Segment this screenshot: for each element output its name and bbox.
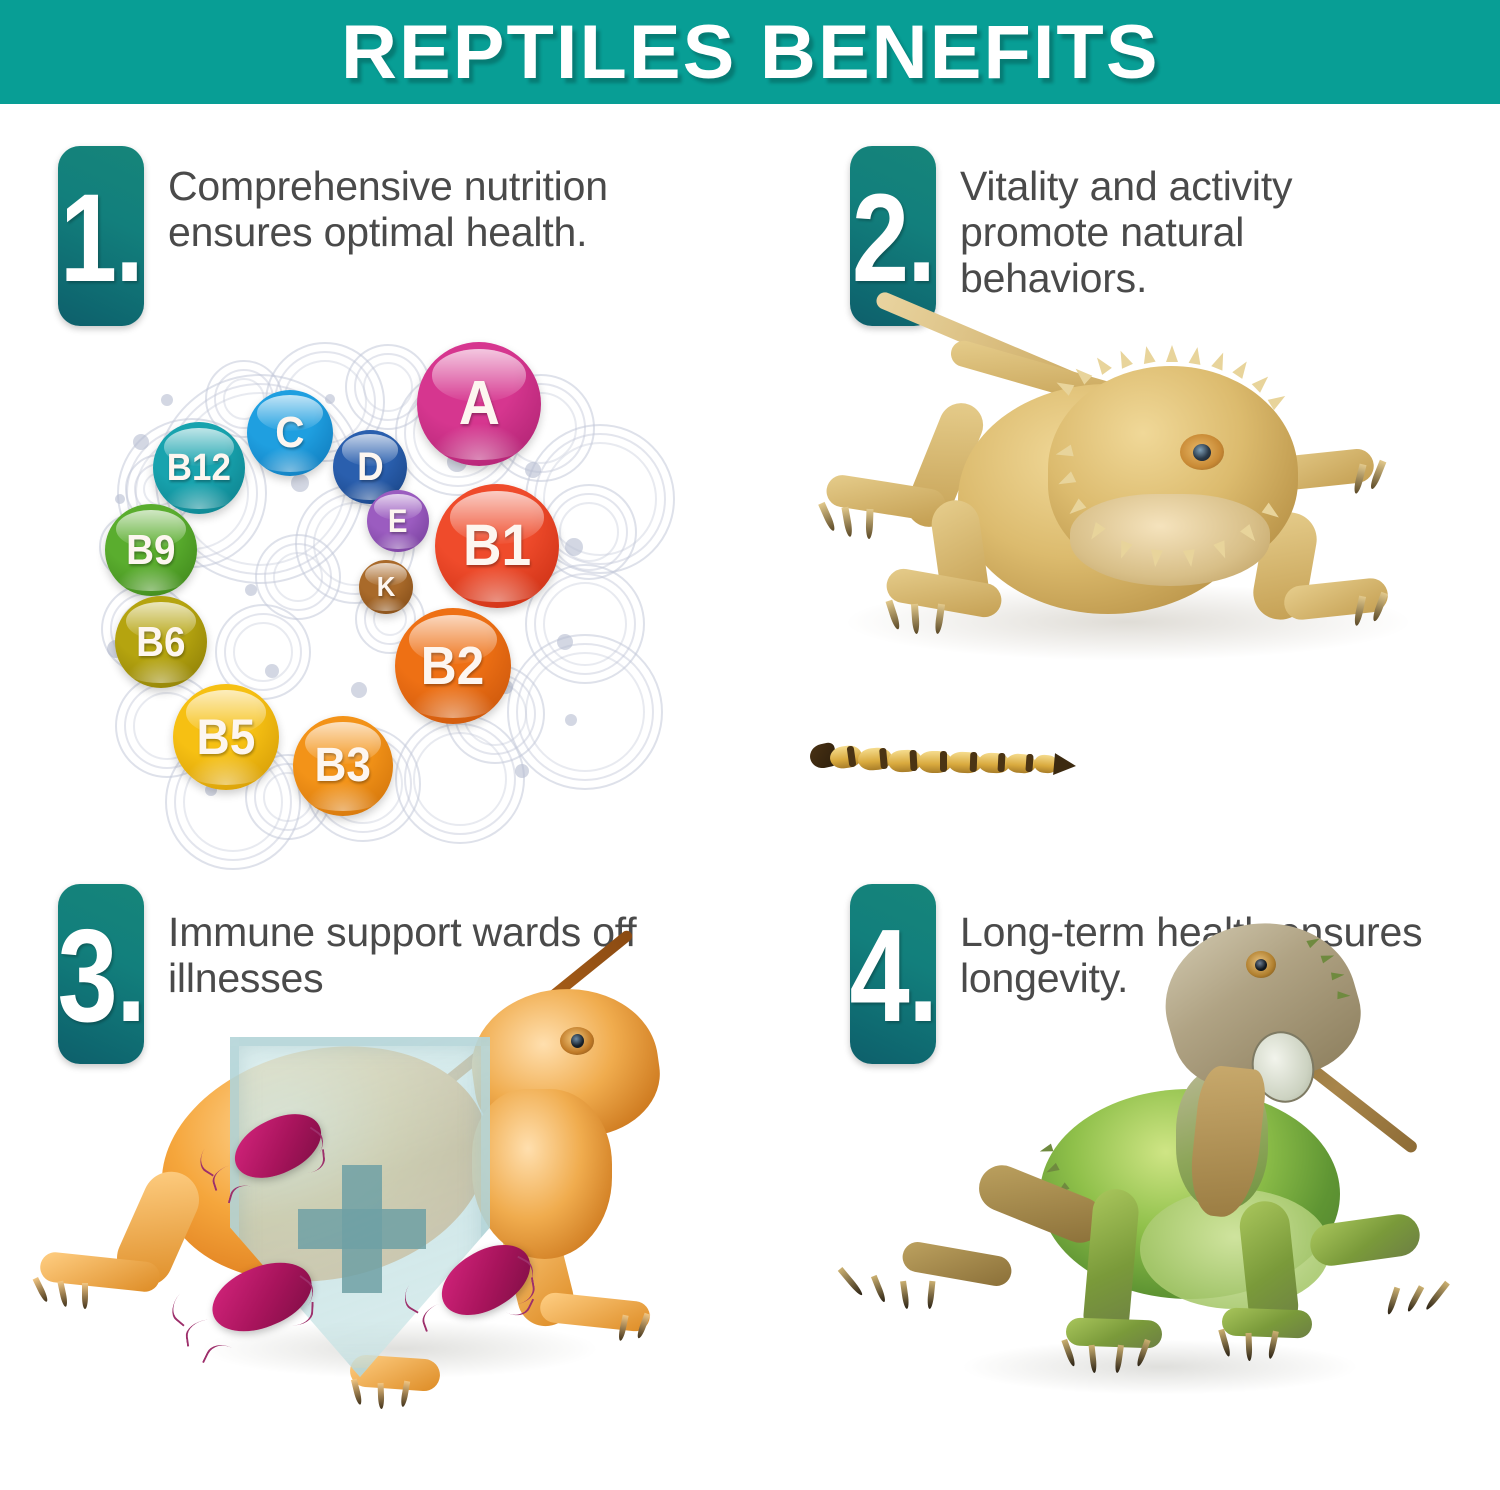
benefit-heading-2: 2. Vitality and activity promote natural… xyxy=(850,146,1420,326)
iguana-claw xyxy=(927,1281,936,1309)
decorative-dot xyxy=(325,394,335,404)
vitamin-bubble-label: A xyxy=(458,373,499,435)
benefit-panel-2: 2. Vitality and activity promote natural… xyxy=(750,104,1500,849)
iguana-eye xyxy=(1246,951,1276,978)
header-bar: REPTILES BENEFITS xyxy=(0,0,1500,104)
dragon-claw xyxy=(818,502,837,532)
number-badge-label-1: 1. xyxy=(60,176,142,301)
iguana-claw xyxy=(838,1267,864,1297)
vitamin-bubble-b1: B1 xyxy=(435,484,559,608)
dragon-claw xyxy=(33,1277,50,1303)
vitamin-bubble-e: E xyxy=(367,490,429,552)
decorative-dot xyxy=(161,394,173,406)
benefit-text-1: Comprehensive nutrition ensures optimal … xyxy=(168,146,628,256)
vitamin-wheel-graphic: ACB12DB9EB1KB6B2B5B3 xyxy=(95,334,615,824)
vitamin-bubble-label: B2 xyxy=(421,639,485,693)
bearded-dragon-photo xyxy=(808,304,1458,694)
vitamin-bubble-b6: B6 xyxy=(115,596,207,688)
iguana-claw xyxy=(871,1275,887,1303)
mealworm-tail xyxy=(1053,753,1077,777)
decorative-dot xyxy=(133,434,149,450)
decorative-dot xyxy=(291,474,309,492)
vitamin-bubble-label: B12 xyxy=(167,449,231,487)
dragon-neck xyxy=(472,1089,612,1259)
decorative-dot xyxy=(525,462,541,478)
number-badge-1: 1. xyxy=(58,146,144,326)
dragon-claw xyxy=(82,1283,88,1309)
vitamin-bubble-label: B6 xyxy=(136,621,185,663)
immunity-shield-photo xyxy=(20,879,720,1479)
decorative-dot xyxy=(115,494,125,504)
benefit-text-2: Vitality and activity promote natural be… xyxy=(960,146,1420,302)
iguana-claw xyxy=(1424,1281,1450,1311)
decorative-ring xyxy=(233,622,293,682)
benefit-heading-1: 1. Comprehensive nutrition ensures optim… xyxy=(58,146,628,326)
iguana-claw xyxy=(1406,1285,1424,1313)
vitamin-bubble-label: B9 xyxy=(126,529,175,571)
decorative-dot xyxy=(245,584,257,596)
mealworm-photo xyxy=(810,732,1078,788)
dragon-front-right-foot xyxy=(539,1291,652,1332)
dragon-claw xyxy=(57,1281,68,1308)
vitamin-bubble-b3: B3 xyxy=(293,716,393,816)
mealworm-band xyxy=(909,750,917,771)
benefit-panel-1: 1. Comprehensive nutrition ensures optim… xyxy=(0,104,750,849)
vitamin-bubble-label: B3 xyxy=(315,742,371,790)
number-badge-label-2: 2. xyxy=(852,176,934,301)
vitamin-bubble-b12: B12 xyxy=(153,422,245,514)
benefit-panel-4: 4. Long-term health ensures longevity. xyxy=(750,849,1500,1490)
vitamin-bubble-label: B1 xyxy=(463,517,531,575)
dragon-eye xyxy=(560,1027,594,1055)
mealworm-band xyxy=(940,751,947,772)
iguana-rear-left-foot xyxy=(900,1240,1014,1289)
mealworm-band xyxy=(998,753,1006,772)
dragon-claw xyxy=(865,509,873,539)
vitamin-bubble-label: D xyxy=(357,447,384,487)
dragon-eye xyxy=(1180,434,1224,470)
vitamin-bubble-k: K xyxy=(359,560,413,614)
benefit-panel-3: 3. Immune support wards off illnesses xyxy=(0,849,750,1490)
benefits-grid: 1. Comprehensive nutrition ensures optim… xyxy=(0,104,1500,1490)
decorative-dot xyxy=(557,634,573,650)
decorative-dot xyxy=(565,538,583,556)
mealworm-band xyxy=(970,752,978,772)
green-iguana-photo xyxy=(790,889,1470,1469)
iguana-claw xyxy=(1386,1287,1400,1315)
vitamin-bubble-b2: B2 xyxy=(395,608,511,724)
mealworm-band xyxy=(1025,754,1033,772)
medical-cross-horizontal xyxy=(298,1209,426,1249)
iguana-front-right-foot xyxy=(1222,1307,1313,1338)
vitamin-bubble-a: A xyxy=(417,342,541,466)
vitamin-bubble-label: K xyxy=(377,573,396,601)
decorative-dot xyxy=(351,682,367,698)
decorative-dot xyxy=(565,714,577,726)
vitamin-bubble-label: E xyxy=(388,505,408,537)
iguana-claw xyxy=(1246,1333,1253,1361)
page-title: REPTILES BENEFITS xyxy=(341,15,1160,91)
iguana-claw xyxy=(900,1281,910,1310)
vitamin-bubble-b5: B5 xyxy=(173,684,279,790)
vitamin-bubble-c: C xyxy=(247,390,333,476)
vitamin-bubble-label: C xyxy=(275,411,304,455)
dragon-claw xyxy=(378,1383,385,1409)
iguana-ground-shadow xyxy=(960,1339,1360,1395)
dragon-beard xyxy=(1070,494,1270,586)
decorative-dot xyxy=(265,664,279,678)
decorative-dot xyxy=(515,764,529,778)
decorative-ring xyxy=(273,552,323,602)
decorative-ring xyxy=(413,732,507,826)
vitamin-bubble-b9: B9 xyxy=(105,504,197,596)
dragon-claw xyxy=(841,507,853,538)
vitamin-bubble-label: B5 xyxy=(197,712,256,762)
